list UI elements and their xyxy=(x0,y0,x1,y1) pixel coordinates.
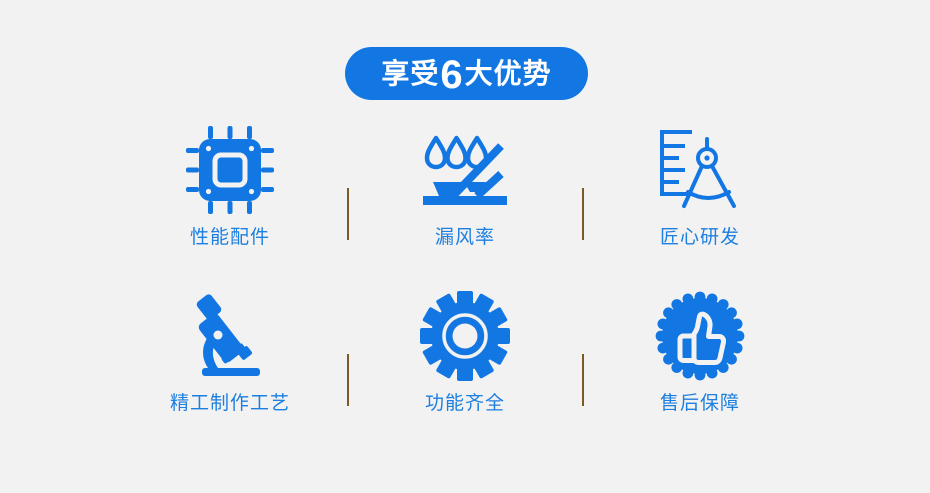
cpu-chip-icon xyxy=(182,118,278,222)
banner-title-prefix: 享受 xyxy=(381,60,439,88)
feature-row-2: 精工制作工艺 xyxy=(0,284,930,450)
banner-title: 享受 6 大优势 xyxy=(381,54,551,94)
feature-label: 匠心研发 xyxy=(660,222,740,249)
feature-cell-after-sales[interactable]: 售后保障 xyxy=(584,284,817,415)
feature-cell-performance-parts[interactable]: 性能配件 xyxy=(114,118,347,249)
water-droplets-airflow-icon xyxy=(417,118,513,222)
banner-title-suffix: 大优势 xyxy=(465,60,552,88)
feature-cell-rnd[interactable]: 匠心研发 xyxy=(584,118,817,249)
feature-label: 功能齐全 xyxy=(425,388,505,415)
feature-cell-air-leakage[interactable]: 漏风率 xyxy=(349,118,582,249)
feature-grid: 性能配件 xyxy=(0,118,930,450)
title-banner: 享受 6 大优势 xyxy=(345,47,588,100)
feature-label: 性能配件 xyxy=(190,222,270,249)
microscope-icon xyxy=(182,284,278,388)
feature-cell-craftsmanship[interactable]: 精工制作工艺 xyxy=(114,284,347,415)
gear-icon xyxy=(417,284,513,388)
feature-row-1: 性能配件 xyxy=(0,118,930,284)
ruler-compass-icon xyxy=(652,118,748,222)
feature-cell-full-function[interactable]: 功能齐全 xyxy=(349,284,582,415)
promo-feature-page: 享受 6 大优势 xyxy=(0,0,930,493)
banner-title-number: 6 xyxy=(439,55,464,95)
feature-label: 售后保障 xyxy=(660,388,740,415)
thumbs-up-badge-icon xyxy=(652,284,748,388)
feature-label: 精工制作工艺 xyxy=(170,388,290,415)
feature-label: 漏风率 xyxy=(435,222,495,249)
